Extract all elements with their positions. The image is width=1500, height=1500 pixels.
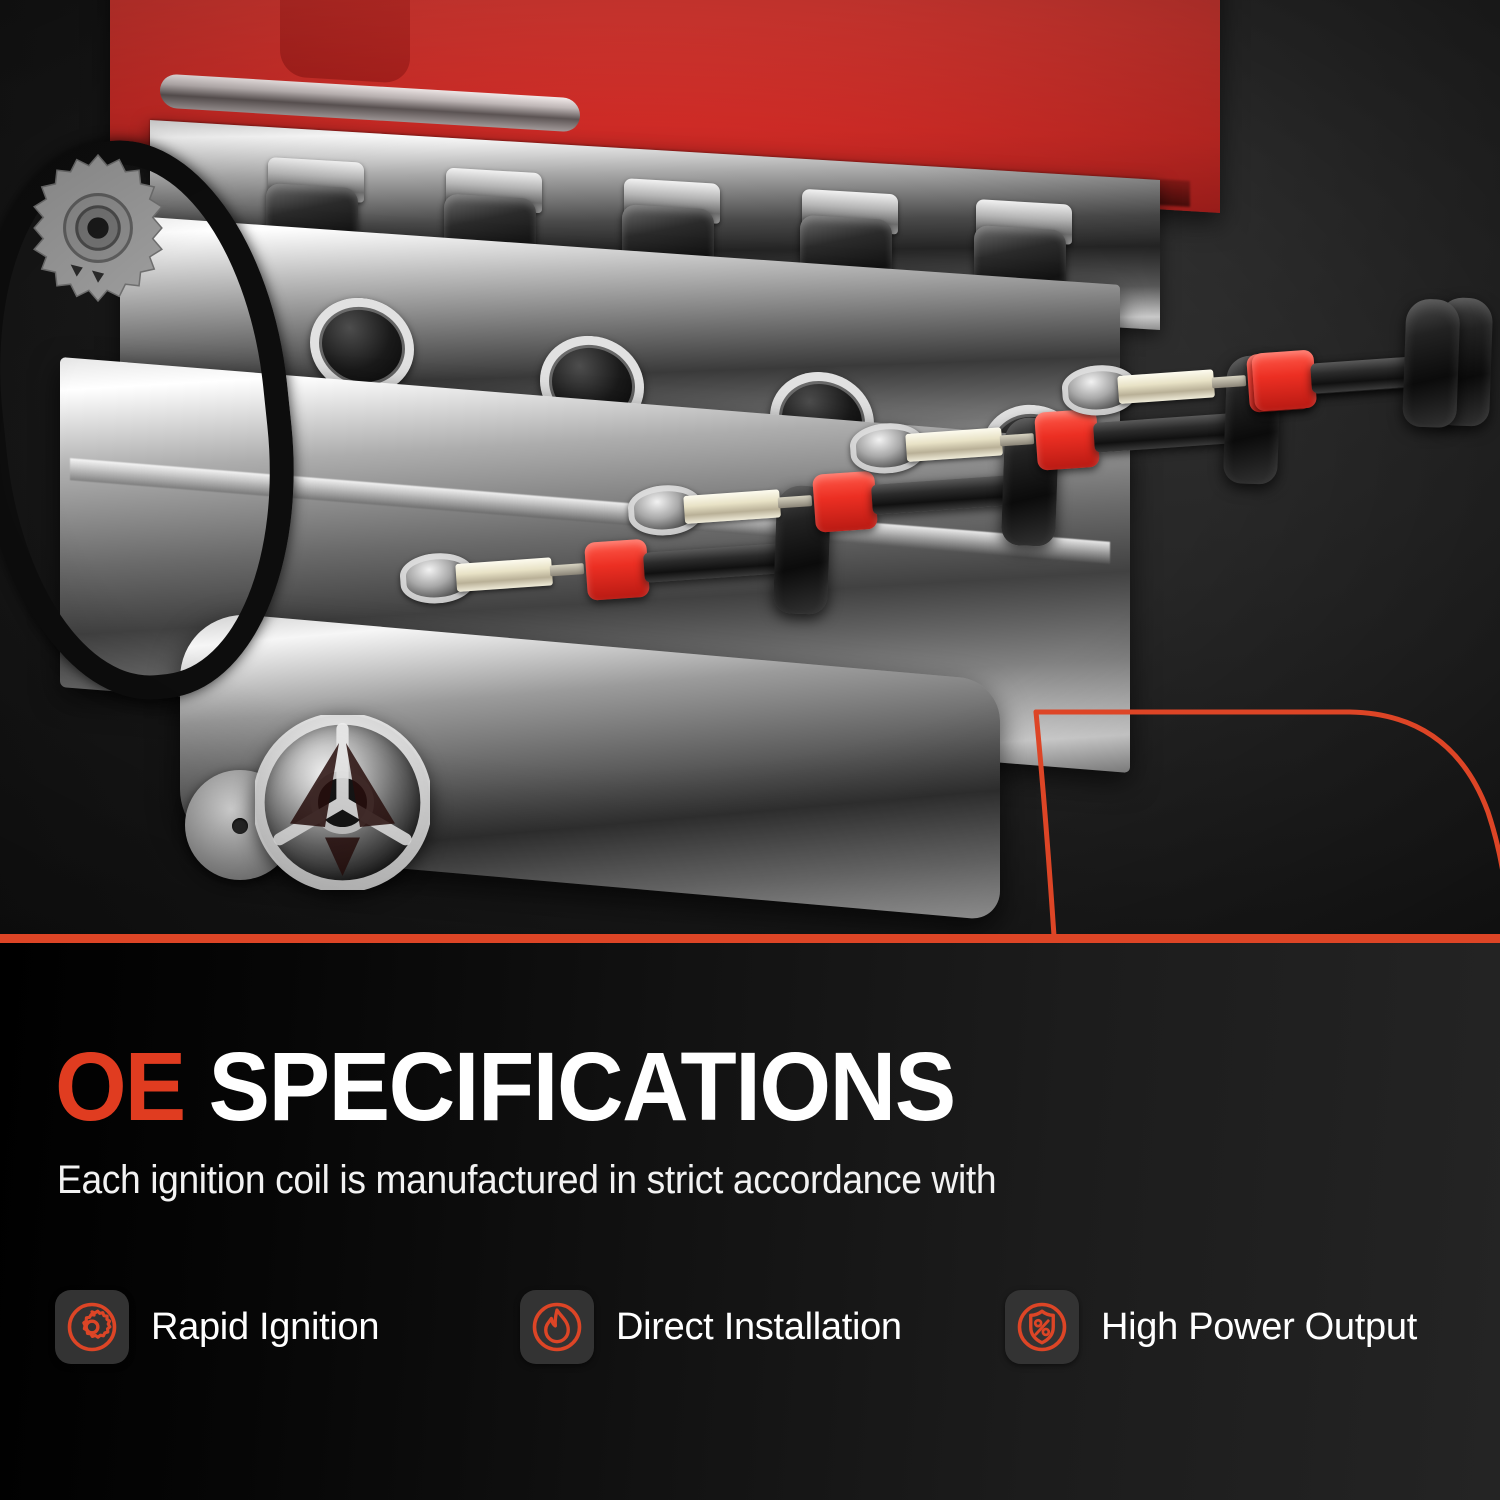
feature-item-rapid-ignition: Rapid Ignition	[55, 1290, 520, 1364]
spark-plug	[683, 489, 781, 524]
coil-boot	[1034, 409, 1100, 471]
headline-highlight: OE	[55, 1032, 184, 1141]
ignition-coil-assemblies	[0, 0, 1500, 934]
shield-percent-icon	[1005, 1290, 1079, 1364]
feature-item-direct-installation: Direct Installation	[520, 1290, 1005, 1364]
spark-plug	[905, 427, 1003, 462]
feature-list: Rapid Ignition Direct Installation	[55, 1272, 1475, 1382]
info-panel	[0, 943, 1500, 1500]
orange-divider-bar	[0, 934, 1500, 943]
page-subtitle: Each ignition coil is manufactured in st…	[57, 1158, 996, 1203]
gear-icon	[55, 1290, 129, 1364]
engine-product-photo	[0, 0, 1500, 934]
feature-label: Rapid Ignition	[151, 1306, 379, 1349]
page-title: OE SPECIFICATIONS	[55, 1038, 955, 1135]
coil-body	[643, 542, 795, 582]
spark-plug	[455, 557, 553, 592]
feature-label: High Power Output	[1101, 1306, 1417, 1349]
coil-boot	[1251, 349, 1317, 411]
flame-icon	[520, 1290, 594, 1364]
spark-plug	[1117, 369, 1215, 404]
coil-boot	[812, 471, 878, 533]
feature-label: Direct Installation	[616, 1306, 902, 1349]
coil-body	[871, 474, 1023, 514]
coil-connector-head	[1402, 298, 1460, 428]
product-marketing-page: OE SPECIFICATIONS Each ignition coil is …	[0, 0, 1500, 1500]
feature-item-high-power-output: High Power Output	[1005, 1290, 1475, 1364]
coil-boot	[584, 539, 650, 601]
coil-body	[1093, 412, 1245, 452]
headline-rest: SPECIFICATIONS	[184, 1032, 954, 1141]
spark-plug-tip	[550, 563, 585, 576]
